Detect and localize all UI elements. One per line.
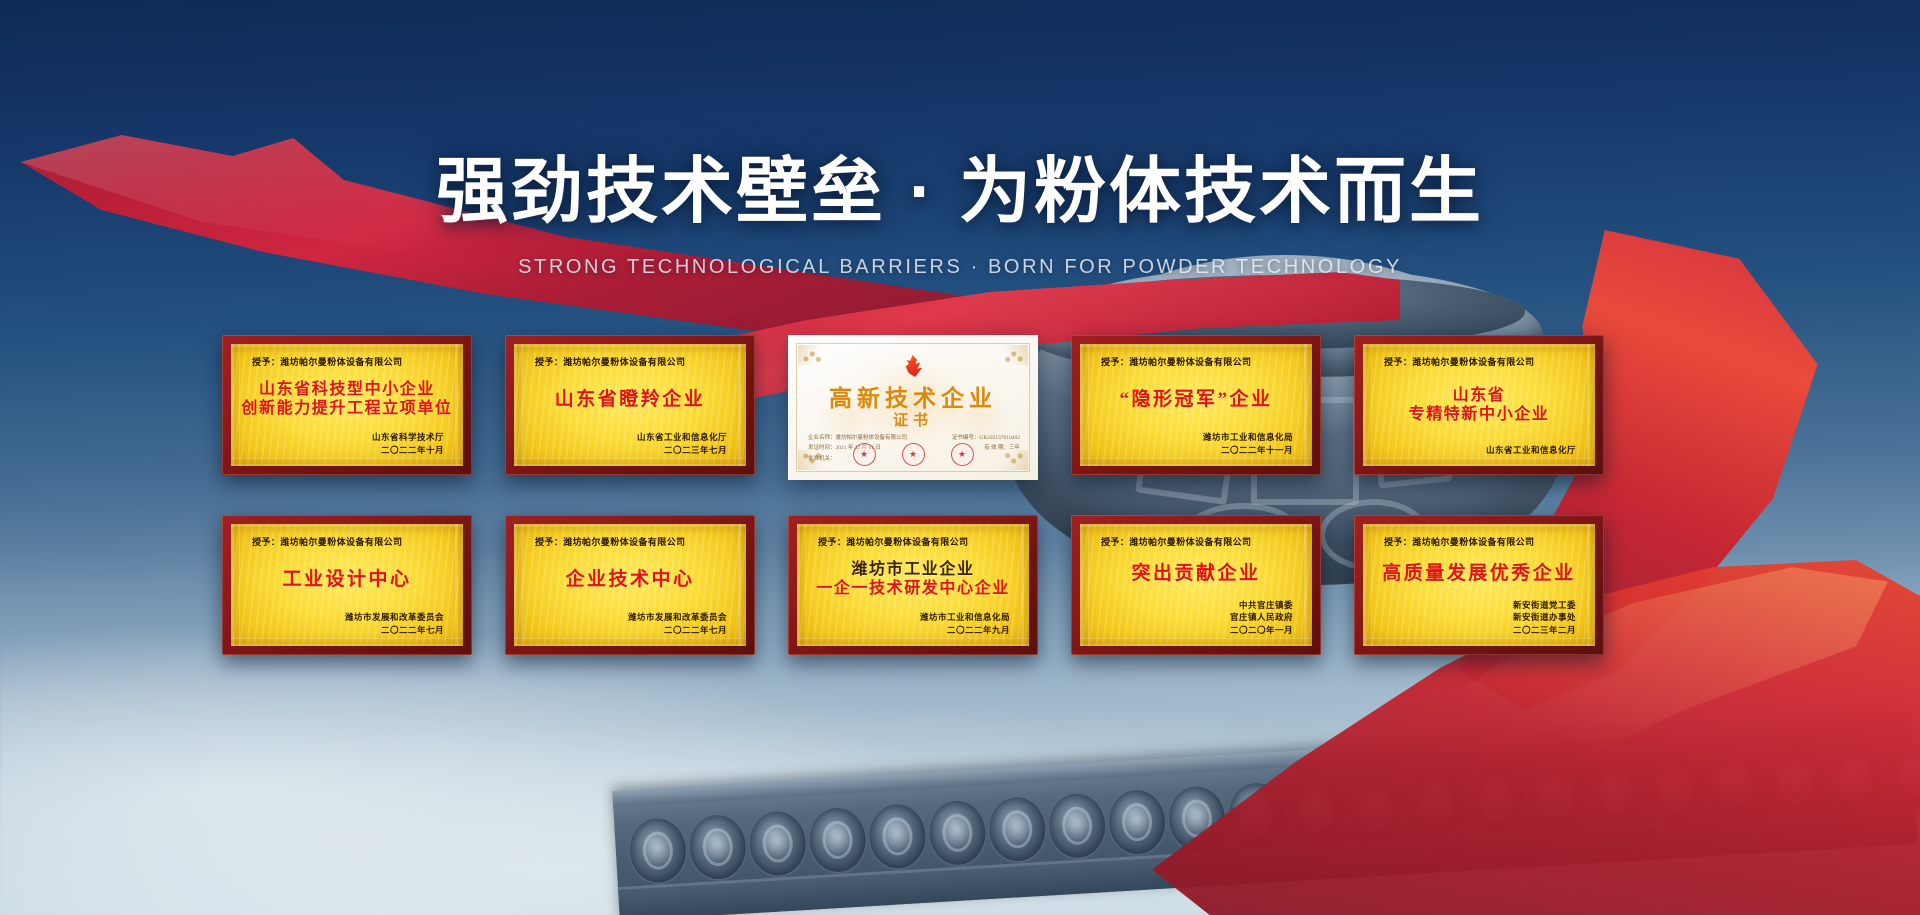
plaque-gold-panel: 授予：潍坊帕尔曼粉体设备有限公司企业技术中心潍坊市发展和改革委员会二〇二二年七月 xyxy=(514,524,746,646)
plaque-title: 山东省科技型中小企业创新能力提升工程立项单位 xyxy=(240,368,454,431)
plaque-content: 授予：潍坊帕尔曼粉体设备有限公司高质量发展优秀企业新安街道党工委新安街道办事处二… xyxy=(1372,533,1586,637)
plaque-issuer-line: 二〇二二年十月 xyxy=(240,444,444,456)
stone-medallion xyxy=(928,799,988,866)
plaque-title-line: 企业技术中心 xyxy=(565,569,694,590)
plaque-issuer-line: 新安街道党工委 xyxy=(1372,599,1576,611)
plaque-awardee: 授予：潍坊帕尔曼粉体设备有限公司 xyxy=(1372,355,1586,368)
award-plaque[interactable]: 授予：潍坊帕尔曼粉体设备有限公司工业设计中心潍坊市发展和改革委员会二〇二二年七月 xyxy=(222,515,472,655)
plaque-issuer: 潍坊市工业和信息化局二〇二二年九月 xyxy=(806,611,1020,637)
plaque-gold-panel: 授予：潍坊帕尔曼粉体设备有限公司潍坊市工业企业一企一技术研发中心企业潍坊市工业和… xyxy=(797,524,1029,646)
plaque-issuer-line: 潍坊市工业和信息化局 xyxy=(806,611,1010,623)
official-seal-icon xyxy=(951,443,974,466)
official-seal-icon xyxy=(853,443,876,466)
plaque-title: 工业设计中心 xyxy=(240,548,454,611)
plaque-issuer-line: 山东省工业和信息化厅 xyxy=(523,431,727,443)
plaque-gold-panel: 授予：潍坊帕尔曼粉体设备有限公司高质量发展优秀企业新安街道党工委新安街道办事处二… xyxy=(1363,524,1595,646)
plaque-title: 企业技术中心 xyxy=(523,548,737,611)
stone-medallion xyxy=(1047,792,1107,859)
plaque-awardee: 授予：潍坊帕尔曼粉体设备有限公司 xyxy=(1089,535,1303,548)
plaque-issuer-line: 山东省科学技术厅 xyxy=(240,431,444,443)
plaque-content: 授予：潍坊帕尔曼粉体设备有限公司山东省科技型中小企业创新能力提升工程立项单位山东… xyxy=(240,353,454,457)
award-plaque[interactable]: 授予：潍坊帕尔曼粉体设备有限公司山东省瞪羚企业山东省工业和信息化厅二〇二三年七月 xyxy=(505,335,755,475)
plaque-gold-panel: 授予：潍坊帕尔曼粉体设备有限公司山东省瞪羚企业山东省工业和信息化厅二〇二三年七月 xyxy=(514,344,746,466)
awards-grid: 授予：潍坊帕尔曼粉体设备有限公司山东省科技型中小企业创新能力提升工程立项单位山东… xyxy=(222,335,1702,665)
stone-medallion xyxy=(987,796,1047,863)
plaque-issuer-line: 二〇二二年七月 xyxy=(523,624,727,636)
official-seal-icon xyxy=(902,443,925,466)
plaque-title: 高质量发展优秀企业 xyxy=(1372,548,1586,599)
stone-medallion xyxy=(808,806,868,873)
certificate-seals xyxy=(788,443,1038,466)
plaque-content: 授予：潍坊帕尔曼粉体设备有限公司山东省专精特新中小企业山东省工业和信息化厅 xyxy=(1372,353,1586,457)
plaque-issuer: 山东省工业和信息化厅 xyxy=(1372,444,1586,457)
plaque-issuer: 山东省科学技术厅二〇二二年十月 xyxy=(240,431,454,457)
plaque-awardee: 授予：潍坊帕尔曼粉体设备有限公司 xyxy=(806,535,1020,548)
plaque-issuer-line: 中共官庄镇委 xyxy=(1089,599,1293,611)
page-subtitle: STRONG TECHNOLOGICAL BARRIERS · BORN FOR… xyxy=(0,256,1920,279)
award-plaque[interactable]: 授予：潍坊帕尔曼粉体设备有限公司山东省专精特新中小企业山东省工业和信息化厅 xyxy=(1354,335,1604,475)
plaque-title-line: 工业设计中心 xyxy=(282,569,411,590)
plaque-issuer: 潍坊市发展和改革委员会二〇二二年七月 xyxy=(240,611,454,637)
plaque-issuer: 山东省工业和信息化厅二〇二三年七月 xyxy=(523,431,737,457)
plaque-title-line: 一企一技术研发中心企业 xyxy=(816,580,1010,598)
plaque-issuer-line: 潍坊市发展和改革委员会 xyxy=(240,611,444,623)
certificate-subtitle: 证书 xyxy=(788,409,1038,430)
plaque-gold-panel: 授予：潍坊帕尔曼粉体设备有限公司山东省专精特新中小企业山东省工业和信息化厅 xyxy=(1363,344,1595,466)
plaque-gold-panel: 授予：潍坊帕尔曼粉体设备有限公司工业设计中心潍坊市发展和改革委员会二〇二二年七月 xyxy=(231,524,463,646)
plaque-content: 授予：潍坊帕尔曼粉体设备有限公司潍坊市工业企业一企一技术研发中心企业潍坊市工业和… xyxy=(806,533,1020,637)
stone-medallion xyxy=(1107,789,1167,856)
plaque-issuer-line: 官庄镇人民政府 xyxy=(1089,611,1293,623)
plaque-title: 突出贡献企业 xyxy=(1089,548,1303,599)
stone-medallion xyxy=(688,813,748,880)
award-plaque[interactable]: 授予：潍坊帕尔曼粉体设备有限公司突出贡献企业中共官庄镇委官庄镇人民政府二〇二〇年… xyxy=(1071,515,1321,655)
award-plaque[interactable]: 授予：潍坊帕尔曼粉体设备有限公司高质量发展优秀企业新安街道党工委新安街道办事处二… xyxy=(1354,515,1604,655)
plaque-content: 授予：潍坊帕尔曼粉体设备有限公司工业设计中心潍坊市发展和改革委员会二〇二二年七月 xyxy=(240,533,454,637)
plaque-content: 授予：潍坊帕尔曼粉体设备有限公司突出贡献企业中共官庄镇委官庄镇人民政府二〇二〇年… xyxy=(1089,533,1303,637)
plaque-gold-panel: 授予：潍坊帕尔曼粉体设备有限公司突出贡献企业中共官庄镇委官庄镇人民政府二〇二〇年… xyxy=(1080,524,1312,646)
plaque-awardee: 授予：潍坊帕尔曼粉体设备有限公司 xyxy=(240,355,454,368)
plaque-issuer: 新安街道党工委新安街道办事处二〇二三年二月 xyxy=(1372,599,1586,637)
certificate-corner-ornament-icon xyxy=(798,345,824,365)
plaque-content: 授予：潍坊帕尔曼粉体设备有限公司山东省瞪羚企业山东省工业和信息化厅二〇二三年七月 xyxy=(523,353,737,457)
certificate-field: 证书编号：GR202137010402 xyxy=(952,433,1020,443)
plaque-issuer-line: 二〇二〇年一月 xyxy=(1089,624,1293,636)
plaque-issuer-line: 新安街道办事处 xyxy=(1372,611,1576,623)
plaque-issuer-line: 山东省工业和信息化厅 xyxy=(1372,444,1576,456)
plaque-title-line: 潍坊市工业企业 xyxy=(851,561,974,579)
page-title: 强劲技术壁垒 · 为粉体技术而生 xyxy=(0,132,1920,237)
plaque-issuer-line: 潍坊市工业和信息化局 xyxy=(1089,431,1293,443)
plaque-title-line: 山东省瞪羚企业 xyxy=(555,389,706,410)
plaque-issuer-line: 二〇二二年十一月 xyxy=(1089,444,1293,456)
stone-medallion xyxy=(868,803,928,870)
stone-medallion xyxy=(628,817,688,884)
certificate-title: 高新技术企业 xyxy=(788,379,1038,413)
honors-banner: 强劲技术壁垒 · 为粉体技术而生 STRONG TECHNOLOGICAL BA… xyxy=(0,0,1920,915)
plaque-title-line: 专精特新中小企业 xyxy=(1409,406,1550,424)
plaque-title: 山东省专精特新中小企业 xyxy=(1372,368,1586,444)
plaque-title-line: 高质量发展优秀企业 xyxy=(1382,563,1576,584)
plaque-gold-panel: 授予：潍坊帕尔曼粉体设备有限公司“隐形冠军”企业潍坊市工业和信息化局二〇二二年十… xyxy=(1080,344,1312,466)
plaque-title: “隐形冠军”企业 xyxy=(1089,368,1303,431)
plaque-content: 授予：潍坊帕尔曼粉体设备有限公司“隐形冠军”企业潍坊市工业和信息化局二〇二二年十… xyxy=(1089,353,1303,457)
award-plaque[interactable]: 授予：潍坊帕尔曼粉体设备有限公司“隐形冠军”企业潍坊市工业和信息化局二〇二二年十… xyxy=(1071,335,1321,475)
award-plaque[interactable]: 授予：潍坊帕尔曼粉体设备有限公司企业技术中心潍坊市发展和改革委员会二〇二二年七月 xyxy=(505,515,755,655)
plaque-title-line: 山东省科技型中小企业 xyxy=(259,381,435,399)
plaque-issuer: 潍坊市工业和信息化局二〇二二年十一月 xyxy=(1089,431,1303,457)
award-plaque[interactable]: 授予：潍坊帕尔曼粉体设备有限公司潍坊市工业企业一企一技术研发中心企业潍坊市工业和… xyxy=(788,515,1038,655)
plaque-title-line: “隐形冠军”企业 xyxy=(1119,389,1272,410)
plaque-title-line: 突出贡献企业 xyxy=(1131,563,1260,584)
plaque-issuer: 潍坊市发展和改革委员会二〇二二年七月 xyxy=(523,611,737,637)
plaque-title: 山东省瞪羚企业 xyxy=(523,368,737,431)
plaque-issuer-line: 潍坊市发展和改革委员会 xyxy=(523,611,727,623)
plaque-content: 授予：潍坊帕尔曼粉体设备有限公司企业技术中心潍坊市发展和改革委员会二〇二二年七月 xyxy=(523,533,737,637)
plaque-title-line: 创新能力提升工程立项单位 xyxy=(241,400,452,418)
plaque-issuer-line: 二〇二二年九月 xyxy=(806,624,1010,636)
plaque-gold-panel: 授予：潍坊帕尔曼粉体设备有限公司山东省科技型中小企业创新能力提升工程立项单位山东… xyxy=(231,344,463,466)
plaque-issuer-line: 二〇二二年七月 xyxy=(240,624,444,636)
plaque-awardee: 授予：潍坊帕尔曼粉体设备有限公司 xyxy=(1372,535,1586,548)
plaque-issuer: 中共官庄镇委官庄镇人民政府二〇二〇年一月 xyxy=(1089,599,1303,637)
plaque-issuer-line: 二〇二三年七月 xyxy=(523,444,727,456)
certificate-corner-ornament-icon xyxy=(1002,345,1028,365)
plaque-awardee: 授予：潍坊帕尔曼粉体设备有限公司 xyxy=(523,535,737,548)
plaque-awardee: 授予：潍坊帕尔曼粉体设备有限公司 xyxy=(1089,355,1303,368)
plaque-title-line: 山东省 xyxy=(1453,387,1506,405)
plaque-title: 潍坊市工业企业一企一技术研发中心企业 xyxy=(806,548,1020,611)
award-certificate[interactable]: 高新技术企业证书企业名称：潍坊帕尔曼粉体设备有限公司证书编号：GR2021370… xyxy=(788,335,1038,480)
certificate-field: 企业名称：潍坊帕尔曼粉体设备有限公司 xyxy=(808,433,907,443)
award-plaque[interactable]: 授予：潍坊帕尔曼粉体设备有限公司山东省科技型中小企业创新能力提升工程立项单位山东… xyxy=(222,335,472,475)
plaque-issuer-line: 二〇二三年二月 xyxy=(1372,624,1576,636)
plaque-awardee: 授予：潍坊帕尔曼粉体设备有限公司 xyxy=(523,355,737,368)
plaque-awardee: 授予：潍坊帕尔曼粉体设备有限公司 xyxy=(240,535,454,548)
stone-medallion xyxy=(748,810,808,877)
certificate-field-row: 企业名称：潍坊帕尔曼粉体设备有限公司证书编号：GR202137010402 xyxy=(808,433,1020,443)
